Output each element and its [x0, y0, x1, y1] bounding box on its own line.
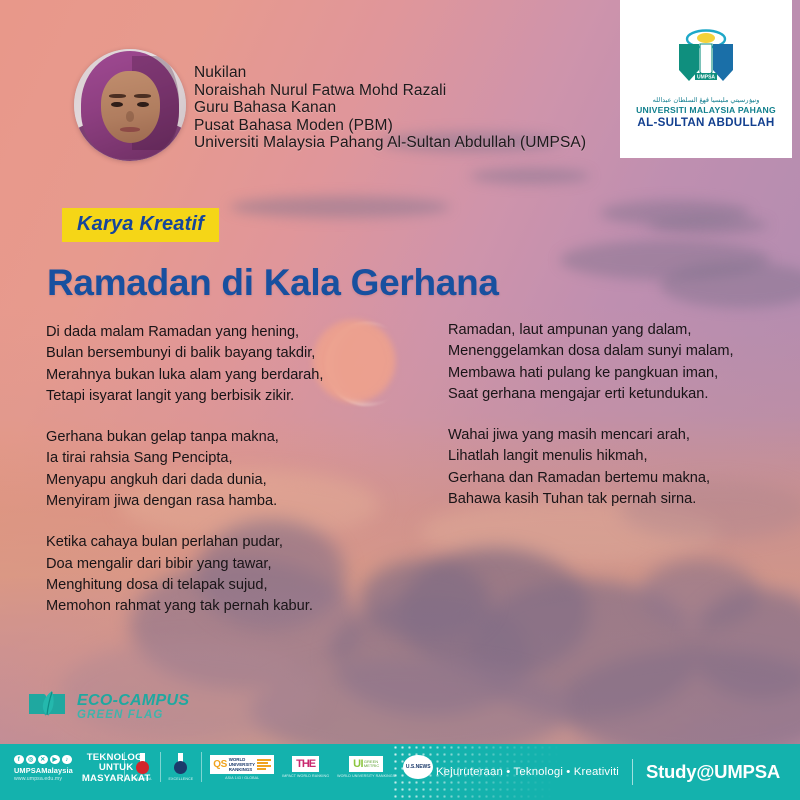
divider — [632, 759, 633, 785]
ui-greenmetric-logo-icon: UI GREEN METRIC — [349, 756, 383, 772]
ranking-badge-ui-greenmetric: UI GREEN METRIC WORLD UNIVERSITY RANKING… — [337, 756, 395, 778]
cloud-wisp — [648, 216, 768, 234]
ranking-caption: EXCELLENCE — [169, 777, 194, 781]
poem-line: Lihatlah langit menulis hikmah, — [448, 446, 734, 467]
poem-line: Menyapu angkuh dari dada dunia, — [46, 470, 323, 491]
cloud-wisp — [230, 196, 450, 218]
poem-stanza: Ramadan, laut ampunan yang dalam, Meneng… — [448, 320, 734, 405]
author-line-position: Guru Bahasa Kanan — [194, 99, 586, 117]
poster-canvas: Nukilan Noraishah Nurul Fatwa Mohd Razal… — [0, 0, 800, 800]
ranking-badge-award: EXCELLENCE — [169, 753, 194, 781]
social-links[interactable]: f ◎ ✕ ▶ ♪ — [14, 755, 72, 765]
poem-line: Menghitung dosa di telapak sujud, — [46, 575, 323, 596]
poem-line: Saat gerhana mengajar erti ketundukan. — [448, 384, 734, 405]
poem-line: Doa mengalir dari bibir yang tawar, — [46, 554, 323, 575]
medal-icon — [174, 753, 187, 775]
ranking-caption: WORLD UNIVERSITY RANKINGS — [337, 774, 395, 778]
x-twitter-icon[interactable]: ✕ — [38, 755, 48, 765]
ranking-badges: MALAYSIA EXCELLENCE QS WORLD UNIVERSITY … — [124, 752, 433, 782]
cloud-wisp — [470, 168, 590, 184]
eco-campus-logo: ECO-CAMPUS GREEN FLAG — [26, 688, 189, 727]
ui-mark: UI — [353, 758, 363, 770]
poem-line: Gerhana dan Ramadan bertemu makna, — [448, 468, 734, 489]
poem-line: Tetapi isyarat langit yang berbisik ziki… — [46, 386, 323, 407]
karya-kreatif-badge: Karya Kreatif — [62, 208, 219, 242]
umpsa-jawi-text: ونيۏرسيتي مليسيا ڤهڠ السلطان عبدالله — [653, 96, 760, 104]
poem-line: Menenggelamkan dosa dalam sunyi malam, — [448, 341, 734, 362]
poem-line: Ia tirai rahsia Sang Pencipta, — [46, 448, 323, 469]
poem-line: Memohon rahmat yang tak pernah kabur. — [46, 596, 323, 617]
ranking-caption: MALAYSIA — [133, 777, 152, 781]
website-url[interactable]: www.umpsa.edu.my — [14, 776, 62, 782]
author-line-department: Pusat Bahasa Moden (PBM) — [194, 117, 586, 135]
poem-line: Membawa hati pulang ke pangkuan iman, — [448, 363, 734, 384]
poem-stanza: Ketika cahaya bulan perlahan pudar, Doa … — [46, 532, 323, 617]
author-line-university: Universiti Malaysia Pahang Al-Sultan Abd… — [194, 134, 586, 152]
ui-sub-2: METRIC — [364, 764, 379, 768]
footer-right-block: Kejuruteraan • Teknologi • Kreativiti St… — [436, 744, 780, 800]
crescent-moon-icon — [325, 322, 409, 406]
poem-line: Menyiram jiwa dengan rasa hamba. — [46, 491, 323, 512]
author-line-name: Noraishah Nurul Fatwa Mohd Razali — [194, 82, 586, 100]
poem-left-column: Di dada malam Ramadan yang hening, Bulan… — [46, 322, 323, 618]
qs-line-3: RANKINGS — [229, 767, 255, 772]
poem-line: Ketika cahaya bulan perlahan pudar, — [46, 532, 323, 553]
footer-bar: f ◎ ✕ ▶ ♪ UMPSAMalaysia www.umpsa.edu.my… — [0, 744, 800, 800]
divider — [201, 752, 202, 782]
poem-stanza: Di dada malam Ramadan yang hening, Bulan… — [46, 322, 323, 407]
qs-line-2: UNIVERSITY — [229, 762, 255, 767]
the-mark: THE — [296, 758, 315, 770]
divider — [160, 752, 161, 782]
author-credit-block: Nukilan Noraishah Nurul Fatwa Mohd Razal… — [194, 64, 586, 152]
social-handle: UMPSAMalaysia — [14, 766, 73, 775]
instagram-icon[interactable]: ◎ — [26, 755, 36, 765]
the-logo-icon: THE — [292, 756, 319, 772]
medal-icon — [136, 753, 149, 775]
ranking-badge-mqa: MALAYSIA — [133, 753, 152, 781]
page-title: Ramadan di Kala Gerhana — [47, 262, 499, 304]
qs-bars-icon — [257, 759, 271, 770]
facebook-icon[interactable]: f — [14, 755, 24, 765]
usnews-mark: U.S.NEWS — [406, 764, 431, 770]
poem-line: Wahai jiwa yang masih mencari arah, — [448, 425, 734, 446]
eco-campus-title: ECO-CAMPUS — [77, 693, 189, 710]
poem-line: Ramadan, laut ampunan yang dalam, — [448, 320, 734, 341]
ranking-badge-usnews: U.S.NEWS — [403, 755, 433, 779]
poem-stanza: Wahai jiwa yang masih mencari arah, Liha… — [448, 425, 734, 510]
avatar — [74, 49, 186, 161]
umpsa-logo-card: UMPSA ونيۏرسيتي مليسيا ڤهڠ السلطان عبدال… — [620, 0, 792, 158]
umpsa-shield-icon: UMPSA — [669, 28, 743, 90]
qs-logo-icon: QS WORLD UNIVERSITY RANKINGS — [210, 755, 274, 774]
ranking-badge-the: THE IMPACT WORLD RANKING — [282, 756, 329, 778]
footer-tagline: Kejuruteraan • Teknologi • Kreativiti — [436, 766, 619, 778]
poem-line: Bulan bersembunyi di balik bayang takdir… — [46, 343, 323, 364]
umpsa-name-line1: UNIVERSITI MALAYSIA PAHANG — [636, 105, 776, 115]
author-line-nukilan: Nukilan — [194, 64, 586, 82]
umpsa-name-line2: AL-SULTAN ABDULLAH — [637, 116, 774, 129]
qs-mark: QS — [213, 759, 226, 770]
ranking-badge-qs: QS WORLD UNIVERSITY RANKINGS ASIA 143 / … — [210, 755, 274, 780]
poem-line: Gerhana bukan gelap tanpa makna, — [46, 427, 323, 448]
eco-campus-subtitle: GREEN FLAG — [77, 710, 189, 722]
ranking-caption: IMPACT WORLD RANKING — [282, 774, 329, 778]
poem-line: Di dada malam Ramadan yang hening, — [46, 322, 323, 343]
youtube-icon[interactable]: ▶ — [50, 755, 60, 765]
poem-line: Merahnya bukan luka alam yang berdarah, — [46, 365, 323, 386]
poem-right-column: Ramadan, laut ampunan yang dalam, Meneng… — [448, 320, 734, 510]
ranking-caption: ASIA 143 / GLOBAL — [225, 776, 259, 780]
author-portrait-avatar — [74, 49, 186, 161]
svg-text:UMPSA: UMPSA — [697, 74, 715, 80]
usnews-logo-icon: U.S.NEWS — [403, 755, 433, 779]
poem-stanza: Gerhana bukan gelap tanpa makna, Ia tira… — [46, 427, 323, 512]
divider — [124, 752, 125, 782]
poem-line: Bahawa kasih Tuhan tak pernah sirna. — [448, 489, 734, 510]
tiktok-icon[interactable]: ♪ — [62, 755, 72, 765]
study-umpsa-label[interactable]: Study@UMPSA — [646, 761, 780, 783]
open-book-leaf-icon — [26, 688, 68, 727]
